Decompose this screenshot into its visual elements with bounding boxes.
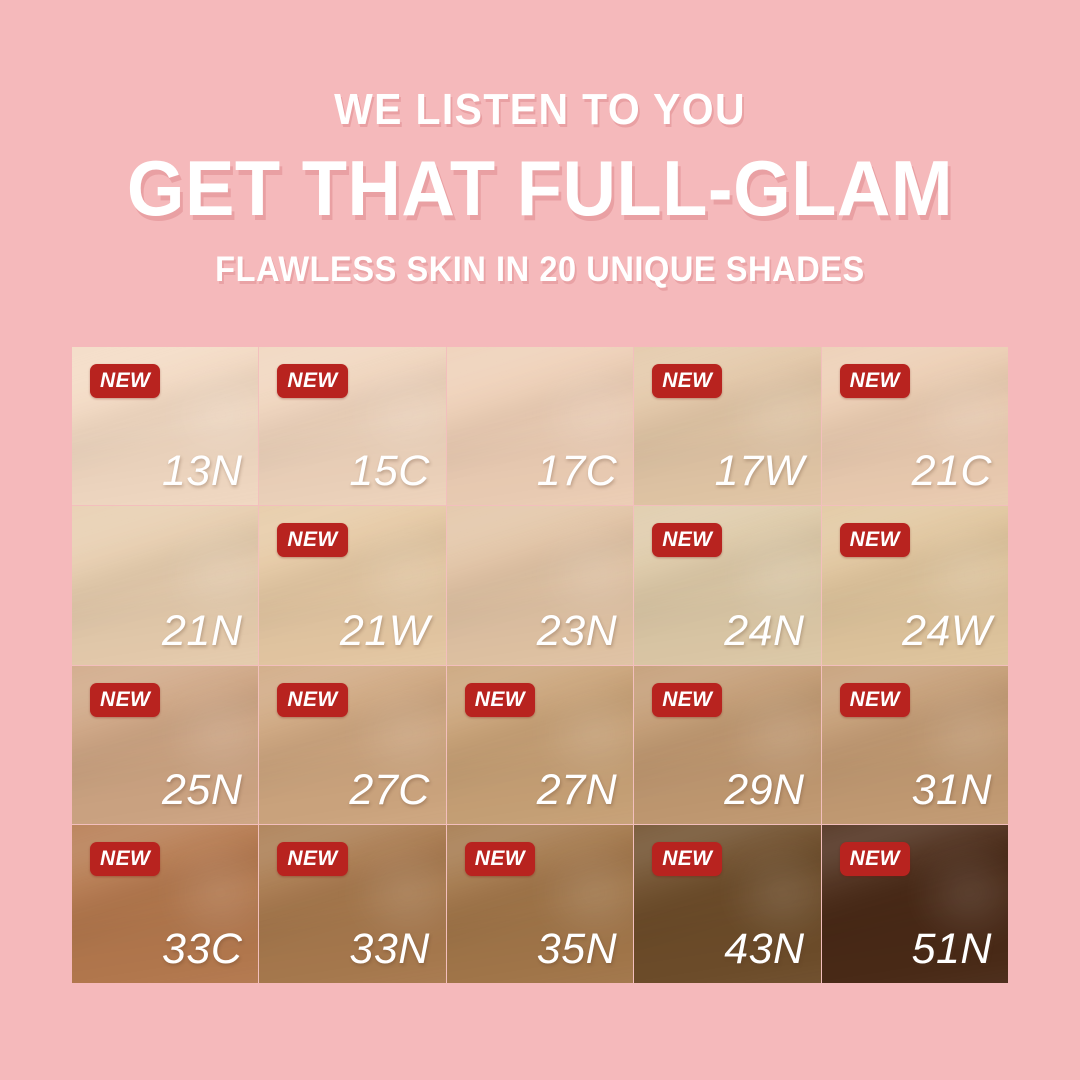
- new-badge: NEW: [652, 842, 722, 876]
- new-badge: NEW: [277, 683, 347, 717]
- shade-code-label: 29N: [724, 767, 804, 813]
- shade-swatch[interactable]: NEW25N: [72, 666, 258, 824]
- shade-swatch[interactable]: NEW23N: [447, 506, 633, 664]
- shade-swatch[interactable]: NEW29N: [634, 666, 820, 824]
- shade-swatch[interactable]: NEW33N: [259, 825, 445, 983]
- shade-code-label: 27C: [349, 767, 429, 813]
- shade-code-label: 43N: [724, 926, 804, 972]
- shade-code-label: 35N: [537, 926, 617, 972]
- shade-code-label: 21W: [340, 608, 430, 654]
- eyebrow-text: WE LISTEN TO YOU: [38, 84, 1042, 136]
- shade-swatch[interactable]: NEW33C: [72, 825, 258, 983]
- shade-swatch[interactable]: NEW21N: [72, 506, 258, 664]
- shade-code-label: 17W: [715, 448, 805, 494]
- shade-swatch[interactable]: NEW17W: [634, 347, 820, 505]
- new-badge: NEW: [652, 364, 722, 398]
- new-badge: NEW: [277, 523, 347, 557]
- promo-canvas: WE LISTEN TO YOU GET THAT FULL-GLAM FLAW…: [0, 0, 1080, 1080]
- new-badge: NEW: [652, 523, 722, 557]
- shade-swatch[interactable]: NEW51N: [822, 825, 1008, 983]
- shade-code-label: 15C: [349, 448, 429, 494]
- shade-swatch[interactable]: NEW13N: [72, 347, 258, 505]
- new-badge: NEW: [652, 683, 722, 717]
- shade-code-label: 21C: [912, 448, 992, 494]
- shade-swatch[interactable]: NEW43N: [634, 825, 820, 983]
- new-badge: NEW: [90, 683, 160, 717]
- shade-code-label: 31N: [912, 767, 992, 813]
- new-badge: NEW: [277, 364, 347, 398]
- shade-swatch[interactable]: NEW31N: [822, 666, 1008, 824]
- shade-swatch[interactable]: NEW15C: [259, 347, 445, 505]
- shade-swatch[interactable]: NEW24N: [634, 506, 820, 664]
- shade-code-label: 25N: [162, 767, 242, 813]
- new-badge: NEW: [840, 523, 910, 557]
- shade-code-label: 27N: [537, 767, 617, 813]
- new-badge: NEW: [465, 683, 535, 717]
- shade-swatch[interactable]: NEW21W: [259, 506, 445, 664]
- shade-code-label: 21N: [162, 608, 242, 654]
- shade-swatch[interactable]: NEW21C: [822, 347, 1008, 505]
- new-badge: NEW: [90, 364, 160, 398]
- new-badge: NEW: [465, 842, 535, 876]
- shade-swatch[interactable]: NEW24W: [822, 506, 1008, 664]
- new-badge: NEW: [840, 364, 910, 398]
- page-title: GET THAT FULL-GLAM: [27, 144, 1053, 232]
- shade-swatch[interactable]: NEW27N: [447, 666, 633, 824]
- new-badge: NEW: [840, 842, 910, 876]
- new-badge: NEW: [277, 842, 347, 876]
- shade-swatch-grid: NEW13NNEW15CNEW17CNEW17WNEW21CNEW21NNEW2…: [72, 347, 1008, 983]
- shade-swatch[interactable]: NEW35N: [447, 825, 633, 983]
- shade-code-label: 24N: [724, 608, 804, 654]
- shade-code-label: 51N: [912, 926, 992, 972]
- shade-code-label: 13N: [162, 448, 242, 494]
- shade-swatch[interactable]: NEW17C: [447, 347, 633, 505]
- shade-code-label: 17C: [537, 448, 617, 494]
- shade-swatch[interactable]: NEW27C: [259, 666, 445, 824]
- headline-block: WE LISTEN TO YOU GET THAT FULL-GLAM FLAW…: [0, 0, 1080, 292]
- shade-code-label: 24W: [902, 608, 992, 654]
- subheadline-text: FLAWLESS SKIN IN 20 UNIQUE SHADES: [38, 248, 1042, 292]
- new-badge: NEW: [840, 683, 910, 717]
- shade-code-label: 33C: [162, 926, 242, 972]
- shade-code-label: 33N: [349, 926, 429, 972]
- shade-code-label: 23N: [537, 608, 617, 654]
- new-badge: NEW: [90, 842, 160, 876]
